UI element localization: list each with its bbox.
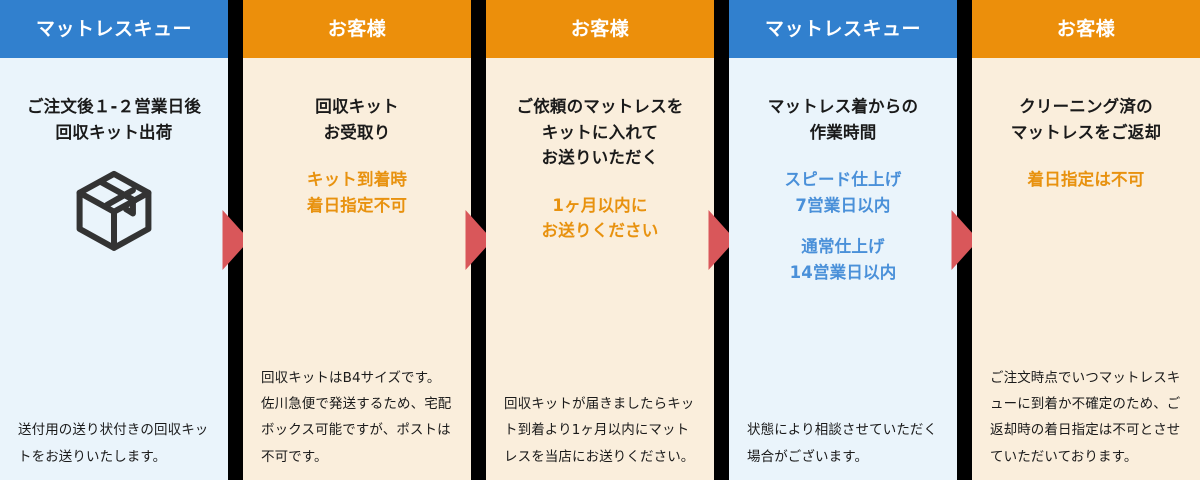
step-actor-header: お客様 <box>486 0 714 58</box>
step-accent-group: スピード仕上げ7営業日以内通常仕上げ14営業日以内 <box>747 167 939 285</box>
step-connector-4 <box>957 0 972 480</box>
step-accent-group: キット到着時着日指定不可 <box>261 167 453 218</box>
step-connector-2 <box>471 0 486 480</box>
process-step-2: お客様回収キットお受取りキット到着時着日指定不可回収キットはB4サイズです。佐川… <box>243 0 471 480</box>
step-accent-1: キット到着時着日指定不可 <box>307 167 407 218</box>
step-actor-header: マットレスキュー <box>0 0 228 58</box>
step-accent-2: 通常仕上げ14営業日以内 <box>790 234 897 285</box>
step-note: 状態により相談させていただく場合がございます。 <box>747 417 939 470</box>
step-connector-1 <box>228 0 243 480</box>
process-step-1: マットレスキューご注文後１-２営業日後回収キット出荷送付用の送り状付きの回収キッ… <box>0 0 228 480</box>
step-accent-group: 1ヶ月以内にお送りください <box>504 193 696 244</box>
process-step-4: マットレスキューマットレス着からの作業時間スピード仕上げ7営業日以内通常仕上げ1… <box>729 0 957 480</box>
step-headline: ご依頼のマットレスをキットに入れてお送りいただく <box>517 94 684 171</box>
process-flow-diagram: マットレスキューご注文後１-２営業日後回収キット出荷送付用の送り状付きの回収キッ… <box>0 0 1200 480</box>
step-actor-header: お客様 <box>243 0 471 58</box>
step-note: 回収キットはB4サイズです。佐川急便で発送するため、宅配ボックス可能ですが、ポス… <box>261 365 453 470</box>
step-body: ご注文後１-２営業日後回収キット出荷送付用の送り状付きの回収キットをお送りいたし… <box>0 58 228 480</box>
step-body: クリーニング済のマットレスをご返却着日指定は不可ご注文時点でいつマットレスキュー… <box>972 58 1200 480</box>
step-actor-header: マットレスキュー <box>729 0 957 58</box>
step-body: 回収キットお受取りキット到着時着日指定不可回収キットはB4サイズです。佐川急便で… <box>243 58 471 480</box>
step-note: 送付用の送り状付きの回収キットをお送りいたします。 <box>18 417 210 470</box>
package-box-icon <box>71 167 157 257</box>
step-accent-1: 1ヶ月以内にお送りください <box>542 193 659 244</box>
step-note: ご注文時点でいつマットレスキューに到着か不確定のため、ご返却時の着日指定は不可と… <box>990 365 1182 470</box>
step-accent-1: スピード仕上げ7営業日以内 <box>785 167 902 218</box>
step-headline: ご注文後１-２営業日後回収キット出荷 <box>27 94 201 145</box>
step-actor-header: お客様 <box>972 0 1200 58</box>
step-icon-wrapper <box>71 167 157 257</box>
step-headline: 回収キットお受取り <box>315 94 399 145</box>
step-accent-1: 着日指定は不可 <box>1028 167 1145 193</box>
step-headline: マットレス着からの作業時間 <box>768 94 918 145</box>
step-accent-group: 着日指定は不可 <box>990 167 1182 193</box>
step-body: マットレス着からの作業時間スピード仕上げ7営業日以内通常仕上げ14営業日以内状態… <box>729 58 957 480</box>
step-headline: クリーニング済のマットレスをご返却 <box>1011 94 1161 145</box>
step-note: 回収キットが届きましたらキット到着より1ヶ月以内にマットレスを当店にお送りくださ… <box>504 391 696 470</box>
process-step-3: お客様ご依頼のマットレスをキットに入れてお送りいただく1ヶ月以内にお送りください… <box>486 0 714 480</box>
step-body: ご依頼のマットレスをキットに入れてお送りいただく1ヶ月以内にお送りください回収キ… <box>486 58 714 480</box>
process-step-5: お客様クリーニング済のマットレスをご返却着日指定は不可ご注文時点でいつマットレス… <box>972 0 1200 480</box>
step-connector-3 <box>714 0 729 480</box>
